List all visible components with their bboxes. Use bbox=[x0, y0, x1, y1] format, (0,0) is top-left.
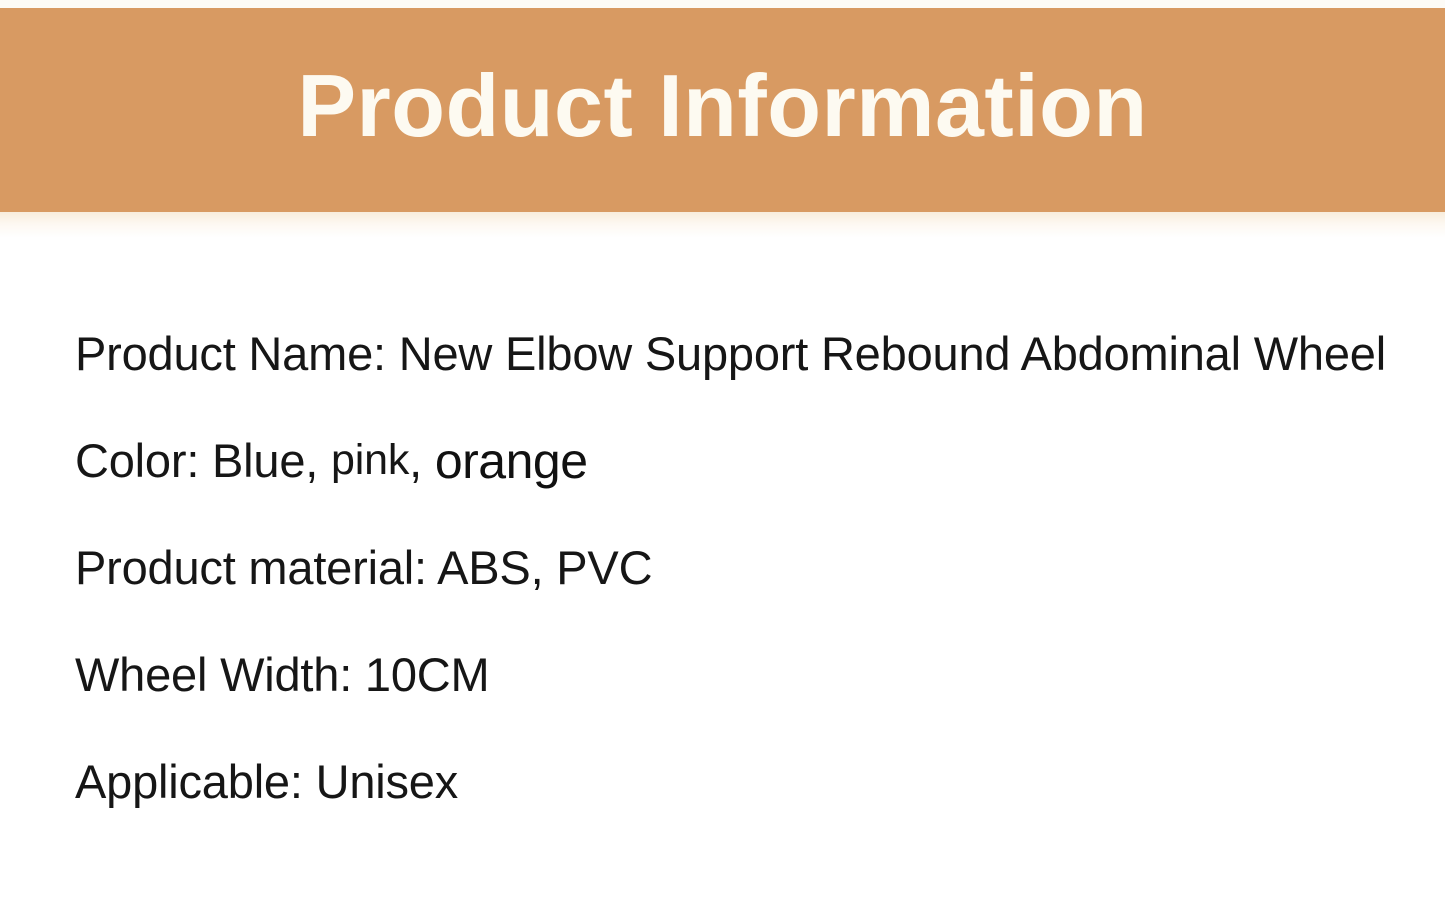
spec-row-applicable: Applicable: Unisex bbox=[75, 728, 1415, 835]
spec-color-prefix-text: Color: Blue, bbox=[75, 437, 318, 484]
spec-product-name-text: Product Name: New Elbow Support Rebound … bbox=[75, 330, 1386, 377]
page-title: Product Information bbox=[297, 62, 1147, 150]
spec-color-pink-text: pink bbox=[331, 439, 409, 482]
banner-bottom-fade bbox=[0, 212, 1445, 238]
spec-wheel-width-text: Wheel Width: 10CM bbox=[75, 651, 490, 698]
spec-row-wheel-width: Wheel Width: 10CM bbox=[75, 621, 1415, 728]
specification-list: Product Name: New Elbow Support Rebound … bbox=[75, 300, 1415, 835]
spec-color-orange-text: orange bbox=[435, 436, 588, 486]
top-edge-strip bbox=[0, 0, 1445, 8]
product-information-page: Product Information Product Name: New El… bbox=[0, 0, 1445, 917]
spec-applicable-text: Applicable: Unisex bbox=[75, 758, 458, 805]
spec-color-separator-comma: , bbox=[409, 437, 422, 484]
spec-material-text: Product material: ABS, PVC bbox=[75, 544, 652, 591]
spec-row-color: Color: Blue, pink, orange bbox=[75, 407, 1415, 514]
spec-row-product-name: Product Name: New Elbow Support Rebound … bbox=[75, 300, 1415, 407]
spec-row-material: Product material: ABS, PVC bbox=[75, 514, 1415, 621]
product-information-banner: Product Information bbox=[0, 8, 1445, 212]
